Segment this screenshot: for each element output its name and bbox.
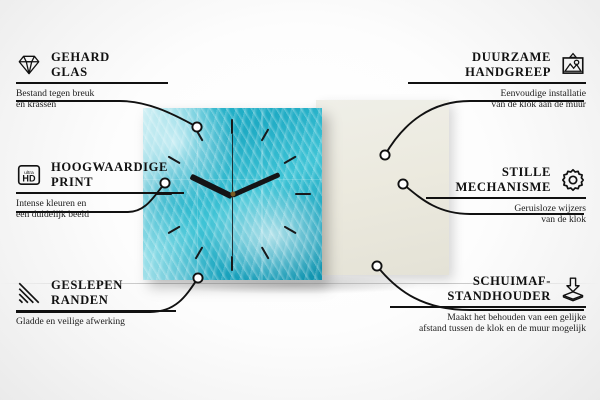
feature-rule [16, 82, 168, 84]
feature-desc-line2: en krassen [16, 99, 168, 111]
feature-head: STILLE MECHANISME [426, 165, 586, 194]
feature-head: SCHUIMAF- STANDHOUDER [390, 274, 586, 303]
feature-desc-line2: afstand tussen de klok en de muur mogeli… [390, 323, 586, 335]
feature-desc-line1: Geruisloze wijzers [426, 203, 586, 215]
feature-duurzame-handgreep: DUURZAME HANDGREEP Eenvoudige installati… [408, 50, 586, 111]
feature-title-line1: GESLEPEN [51, 278, 123, 293]
feature-head: ultra HD HOOGWAARDIGE PRINT [16, 160, 184, 189]
feature-hoogwaardige-print: ultra HD HOOGWAARDIGE PRINT Intense kleu… [16, 160, 184, 221]
picture-frame-icon [560, 52, 586, 78]
feature-title-line1: SCHUIMAF- [390, 274, 551, 289]
beveled-edges-icon [16, 280, 42, 306]
gear-icon [560, 167, 586, 193]
feature-head: DUURZAME HANDGREEP [408, 50, 586, 79]
feature-desc-line1: Maakt het behouden van een gelijke [390, 312, 586, 324]
infographic-canvas: GEHARD GLAS Bestand tegen breuk en krass… [0, 0, 600, 400]
feature-desc-line2: een duidelijk beeld [16, 209, 184, 221]
feature-desc-line1: Gladde en veilige afwerking [16, 316, 176, 328]
feature-title-line2: MECHANISME [426, 180, 551, 195]
feature-desc-line1: Intense kleuren en [16, 198, 184, 210]
feature-geslepen-randen: GESLEPEN RANDEN Gladde en veilige afwerk… [16, 278, 176, 327]
foam-stand-icon [560, 276, 586, 302]
feature-rule [390, 306, 586, 308]
feature-rule [408, 82, 586, 84]
feature-title-line2: PRINT [51, 175, 168, 190]
feature-stille-mechanisme: STILLE MECHANISME Geruisloze wijzers van… [426, 165, 586, 226]
feature-rule [16, 310, 176, 312]
callout-dot-edge [193, 273, 202, 282]
callout-dot-mechanism [398, 179, 407, 188]
feature-desc-line2: van de klok [426, 214, 586, 226]
feature-title-line2: HANDGREEP [408, 65, 551, 80]
feature-title-line1: GEHARD [51, 50, 110, 65]
feature-title-line1: DUURZAME [408, 50, 551, 65]
diamond-icon [16, 52, 42, 78]
feature-rule [16, 192, 184, 194]
feature-title-line2: RANDEN [51, 293, 123, 308]
feature-desc-line2: van de klok aan de muur [408, 99, 586, 111]
feature-title-line2: GLAS [51, 65, 110, 80]
feature-head: GEHARD GLAS [16, 50, 168, 79]
feature-head: GESLEPEN RANDEN [16, 278, 176, 307]
feature-gehard-glas: GEHARD GLAS Bestand tegen breuk en krass… [16, 50, 168, 111]
feature-rule [426, 197, 586, 199]
feature-schuimafstandhouder: SCHUIMAF- STANDHOUDER Maakt het behouden… [390, 274, 586, 335]
callout-dot-foam [372, 261, 381, 270]
callout-dot-glass [192, 122, 201, 131]
svg-text:HD: HD [22, 173, 36, 183]
feature-desc-line1: Eenvoudige installatie [408, 88, 586, 100]
ultra-hd-icon: ultra HD [16, 162, 42, 188]
feature-title-line1: STILLE [426, 165, 551, 180]
callout-dot-hanger [380, 150, 389, 159]
feature-desc-line1: Bestand tegen breuk [16, 88, 168, 100]
feature-title-line1: HOOGWAARDIGE [51, 160, 168, 175]
feature-title-line2: STANDHOUDER [390, 289, 551, 304]
